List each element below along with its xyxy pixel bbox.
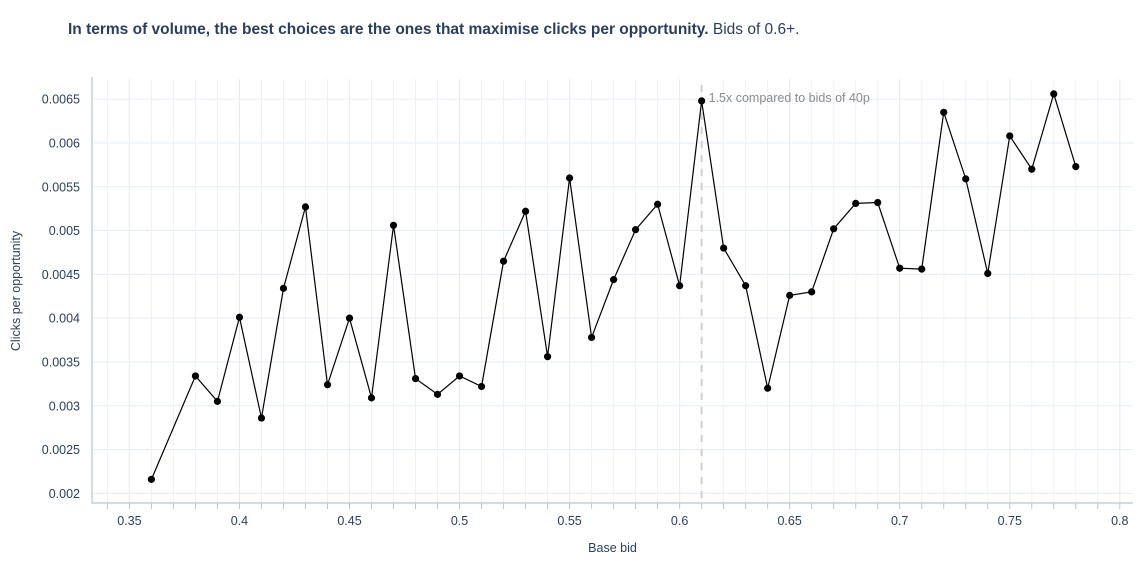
y-tick-label: 0.0035	[42, 355, 80, 369]
data-point-marker	[544, 353, 551, 360]
data-point-marker	[918, 265, 925, 272]
data-point-marker	[852, 200, 859, 207]
y-tick-label: 0.0065	[42, 93, 80, 107]
data-point-marker	[1028, 166, 1035, 173]
data-point-marker	[610, 276, 617, 283]
data-point-marker	[896, 265, 903, 272]
data-point-marker	[280, 285, 287, 292]
chart-container: In terms of volume, the best choices are…	[0, 0, 1148, 575]
x-axis-title: Base bid	[588, 541, 637, 555]
x-tick-label: 0.55	[557, 514, 581, 528]
data-point-marker	[632, 226, 639, 233]
y-tick-label: 0.004	[49, 312, 80, 326]
data-point-marker	[192, 372, 199, 379]
data-point-marker	[742, 282, 749, 289]
data-point-marker	[830, 225, 837, 232]
x-tick-label: 0.75	[998, 514, 1022, 528]
data-point-marker	[390, 222, 397, 229]
x-tick-label: 0.4	[231, 514, 248, 528]
data-point-marker	[302, 203, 309, 210]
data-point-marker	[566, 174, 573, 181]
y-tick-label: 0.0025	[42, 443, 80, 457]
data-point-marker	[654, 201, 661, 208]
data-point-marker	[236, 314, 243, 321]
data-point-marker	[698, 97, 705, 104]
x-tick-label: 0.7	[891, 514, 908, 528]
data-point-marker	[1050, 90, 1057, 97]
y-tick-label: 0.003	[49, 399, 80, 413]
x-tick-label: 0.5	[451, 514, 468, 528]
data-point-marker	[434, 391, 441, 398]
threshold-annotation-label: 1.5x compared to bids of 40p	[709, 91, 870, 105]
y-tick-label: 0.006	[49, 136, 80, 150]
data-point-marker	[1006, 132, 1013, 139]
x-tick-label: 0.8	[1111, 514, 1128, 528]
data-point-marker	[962, 175, 969, 182]
data-point-marker	[588, 334, 595, 341]
data-point-marker	[522, 208, 529, 215]
annotation-layer: 1.5x compared to bids of 40p	[702, 85, 870, 503]
data-point-marker	[764, 385, 771, 392]
data-point-marker	[346, 315, 353, 322]
y-tick-label: 0.0055	[42, 180, 80, 194]
data-point-marker	[984, 270, 991, 277]
data-point-marker	[324, 381, 331, 388]
data-point-marker	[808, 288, 815, 295]
data-point-marker	[786, 292, 793, 299]
data-point-marker	[874, 199, 881, 206]
x-tick-label: 0.6	[671, 514, 688, 528]
data-point-marker	[258, 414, 265, 421]
data-point-marker	[676, 282, 683, 289]
data-point-marker	[412, 375, 419, 382]
data-point-marker	[368, 394, 375, 401]
data-point-marker	[500, 258, 507, 265]
line-chart-plot: 1.5x compared to bids of 40p 0.350.40.45…	[0, 0, 1148, 575]
grid-layer	[92, 79, 1133, 503]
axes-layer	[91, 77, 1133, 509]
y-tick-label: 0.002	[49, 487, 80, 501]
x-tick-label: 0.65	[777, 514, 801, 528]
data-point-marker	[1072, 163, 1079, 170]
data-point-marker	[478, 383, 485, 390]
y-axis-title: Clicks per opportunity	[9, 230, 23, 351]
y-tick-label: 0.005	[49, 224, 80, 238]
x-tick-label: 0.35	[117, 514, 141, 528]
y-tick-label: 0.0045	[42, 268, 80, 282]
data-point-marker	[720, 244, 727, 251]
data-point-marker	[940, 109, 947, 116]
x-tick-label: 0.45	[337, 514, 361, 528]
data-point-marker	[214, 398, 221, 405]
data-point-marker	[456, 372, 463, 379]
data-point-marker	[148, 476, 155, 483]
